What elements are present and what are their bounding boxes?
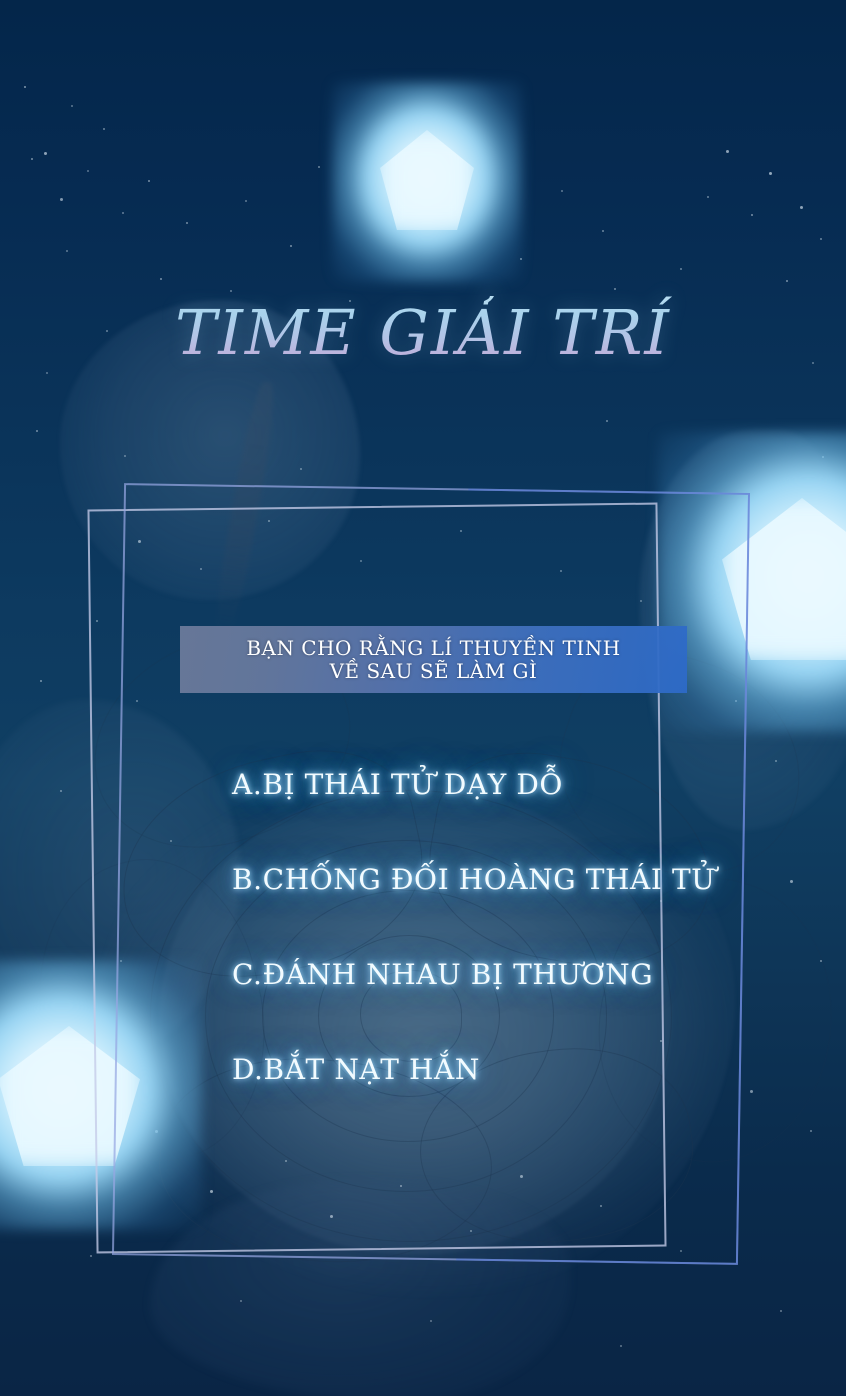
star (620, 1345, 622, 1347)
star (240, 1300, 242, 1302)
option-a[interactable]: A.BỊ THÁI TỬ DẠY DỖ (232, 768, 792, 801)
star (24, 86, 26, 88)
star (769, 172, 772, 175)
star (430, 1320, 432, 1322)
star (810, 1130, 812, 1132)
star (786, 280, 788, 282)
question-banner: BẠN CHO RẰNG LÍ THUYỀN TINH VỀ SAU SẼ LÀ… (180, 626, 687, 693)
page-title: TIME GIẢI TRÍ (0, 296, 846, 369)
star (148, 180, 150, 182)
star (820, 960, 822, 962)
star (800, 660, 802, 662)
star (71, 105, 73, 107)
star (124, 455, 126, 457)
star (680, 268, 682, 270)
orb-glow (332, 82, 522, 282)
star (290, 245, 292, 247)
star (36, 430, 38, 432)
orb-core-shape (380, 130, 474, 230)
star (561, 190, 563, 192)
star (60, 790, 62, 792)
star (160, 278, 162, 280)
star (520, 258, 522, 260)
star (186, 222, 188, 224)
option-b[interactable]: B.CHỐNG ĐỐI HOÀNG THÁI TỬ (232, 863, 792, 896)
question-text: BẠN CHO RẰNG LÍ THUYỀN TINH VỀ SAU SẼ LÀ… (246, 637, 620, 682)
star (780, 1310, 782, 1312)
star (750, 1090, 753, 1093)
star (751, 214, 753, 216)
star (40, 680, 42, 682)
star (468, 144, 470, 146)
star (46, 372, 48, 374)
question-line-2: VỀ SAU SẼ LÀM GÌ (246, 660, 620, 682)
top-center-orb (332, 82, 522, 282)
star (614, 288, 616, 290)
star (122, 212, 124, 214)
star (820, 238, 822, 240)
star (800, 206, 803, 209)
star (66, 250, 68, 252)
star (36, 1010, 38, 1012)
star (60, 198, 63, 201)
quiz-screen: TIME GIẢI TRÍ TIME GIẢI TRÍ BẠN CHO RẰNG… (0, 0, 846, 1396)
question-line-1: BẠN CHO RẰNG LÍ THUYỀN TINH (246, 637, 620, 659)
star (432, 212, 434, 214)
star (245, 200, 247, 202)
option-c[interactable]: C.ĐÁNH NHAU BỊ THƯƠNG (232, 958, 792, 991)
star (602, 230, 604, 232)
star (318, 166, 320, 168)
star (822, 456, 824, 458)
star (726, 150, 729, 153)
star (404, 176, 407, 179)
star (230, 290, 232, 292)
star (31, 158, 33, 160)
star (606, 420, 608, 422)
option-d[interactable]: D.BẮT NẠT HẮN (232, 1053, 792, 1086)
star (87, 170, 89, 172)
star (707, 196, 709, 198)
star (103, 128, 105, 130)
star (90, 1255, 92, 1257)
star (775, 760, 777, 762)
answer-options-list: A.BỊ THÁI TỬ DẠY DỖ B.CHỐNG ĐỐI HOÀNG TH… (232, 768, 792, 1086)
star (44, 152, 47, 155)
star (300, 468, 302, 470)
